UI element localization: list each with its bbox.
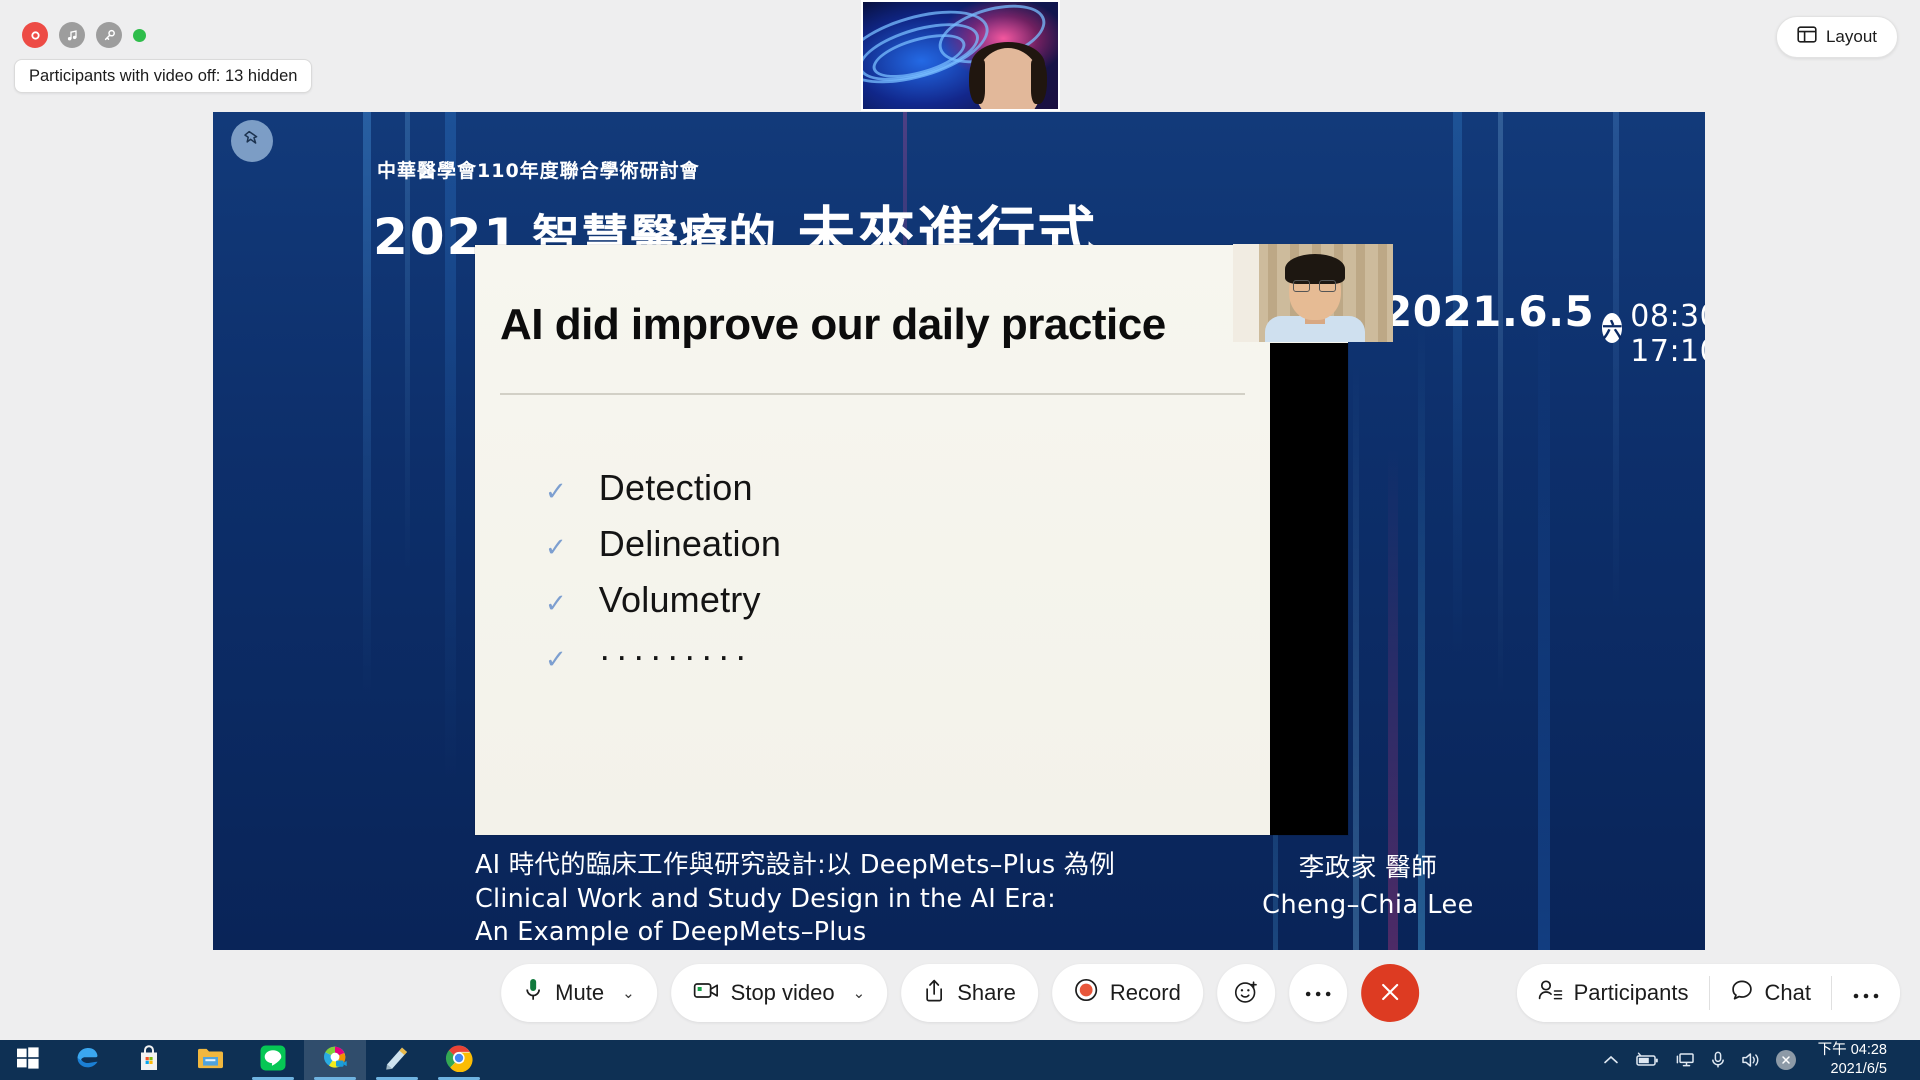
slide-caption-right: 李政家 醫師 Cheng–Chia Lee	[1213, 850, 1523, 924]
presentation-slide: AI did improve our daily practice ✓ Dete…	[475, 245, 1348, 835]
share-button[interactable]: Share	[901, 964, 1038, 1022]
slide-decoration-bar	[1613, 112, 1619, 950]
slide-divider	[500, 393, 1245, 395]
ellipsis-icon	[1852, 980, 1880, 1006]
taskbar-item-line[interactable]	[242, 1040, 304, 1080]
edge-icon	[73, 1044, 101, 1077]
volume-icon[interactable]	[1740, 1051, 1762, 1069]
webex-meeting-window: Participants with video off: 13 hidden L…	[0, 0, 1920, 1080]
record-button-label: Record	[1110, 980, 1181, 1006]
right-more-options-button[interactable]	[1832, 964, 1900, 1022]
slide-decoration-bar	[1418, 112, 1425, 950]
caption-line: Clinical Work and Study Design in the AI…	[475, 883, 1115, 917]
participants-hidden-notice: Participants with video off: 13 hidden	[14, 59, 312, 93]
chrome-icon	[445, 1044, 473, 1077]
taskbar-item-file-explorer[interactable]	[180, 1040, 242, 1080]
conference-weekday-badge: 六	[1602, 313, 1622, 343]
presenter-background	[1233, 244, 1259, 342]
presenter-glasses	[1319, 280, 1336, 292]
clock-date: 2021/6/5	[1818, 1060, 1887, 1079]
windows-taskbar: 下午 04:28 2021/6/5	[0, 1040, 1920, 1080]
mute-button-label: Mute	[555, 980, 604, 1006]
conference-date: 2021.6.5	[1383, 287, 1594, 336]
camera-icon	[693, 980, 719, 1006]
record-circle-icon	[1074, 978, 1098, 1008]
taskbar-item-webex[interactable]	[304, 1040, 366, 1080]
key-dot-icon[interactable]	[96, 22, 122, 48]
line-icon	[260, 1045, 286, 1076]
file-explorer-icon	[196, 1045, 226, 1076]
slide-bullet-list: ✓ Detection ✓ Delineation ✓ Volumetry ✓ …	[545, 467, 781, 691]
toolbar-right-group: Participants Chat	[1517, 964, 1900, 1022]
presenter-video-thumbnail[interactable]	[1233, 244, 1393, 342]
share-upload-icon	[923, 978, 945, 1008]
show-desktop-button[interactable]	[1901, 1040, 1908, 1080]
mute-button[interactable]: Mute ⌄	[501, 964, 657, 1022]
speaker-name-en: Cheng–Chia Lee	[1213, 887, 1523, 924]
taskbar-item-chrome[interactable]	[428, 1040, 490, 1080]
battery-icon[interactable]	[1634, 1052, 1660, 1068]
taskbar-item-sticky-notes[interactable]	[366, 1040, 428, 1080]
participants-icon	[1537, 978, 1563, 1008]
shared-screen-stage[interactable]: 中華醫學會110年度聯合學術研討會 2021 智慧醫療的 未來進行式 2021.…	[213, 112, 1705, 950]
close-x-icon	[1377, 979, 1403, 1008]
list-item: ✓ ·········	[545, 635, 781, 677]
self-video-person	[969, 60, 985, 104]
taskbar-item-edge[interactable]	[56, 1040, 118, 1080]
store-icon	[136, 1044, 162, 1077]
slide-decoration-bar	[1353, 112, 1359, 950]
slide-title: AI did improve our daily practice	[500, 300, 1166, 350]
slide-decoration-bar	[1453, 112, 1462, 950]
meeting-toolbar: Mute ⌄ Stop video ⌄	[0, 950, 1920, 1040]
stop-video-button[interactable]: Stop video ⌄	[671, 964, 888, 1022]
windows-start-button[interactable]	[0, 1040, 56, 1080]
network-icon[interactable]	[1674, 1052, 1696, 1068]
slide-decoration-bar	[1538, 112, 1550, 950]
check-icon: ✓	[545, 478, 567, 504]
music-dot-icon[interactable]	[59, 22, 85, 48]
stop-video-button-label: Stop video	[731, 980, 835, 1006]
list-item-label: Volumetry	[599, 579, 761, 621]
toolbar-center-group: Mute ⌄ Stop video ⌄	[501, 964, 1419, 1022]
participants-hidden-label: Participants with video off: 13 hidden	[29, 67, 297, 86]
unpin-button[interactable]	[231, 120, 273, 162]
record-button[interactable]: Record	[1052, 964, 1203, 1022]
list-item: ✓ Volumetry	[545, 579, 781, 621]
ellipsis-icon	[1304, 986, 1332, 1001]
record-dot-icon[interactable]	[22, 22, 48, 48]
conference-date-row: 2021.6.5 六 08:30-17:10	[1383, 287, 1705, 369]
status-dot-icon	[133, 29, 146, 42]
caption-line: AI 時代的臨床工作與研究設計:以 DeepMets–Plus 為例	[475, 849, 1115, 883]
slide-caption-left: AI 時代的臨床工作與研究設計:以 DeepMets–Plus 為例 Clini…	[475, 849, 1115, 950]
webex-icon	[321, 1044, 349, 1077]
pin-icon	[241, 128, 263, 155]
clock-time: 下午 04:28	[1818, 1041, 1887, 1060]
caption-line: An Example of DeepMets–Plus	[475, 916, 1115, 950]
system-tray: 下午 04:28 2021/6/5	[1602, 1040, 1920, 1080]
chevron-down-icon[interactable]: ⌄	[622, 984, 635, 1002]
slide-black-panel	[1270, 343, 1348, 835]
chevron-down-icon[interactable]: ⌄	[853, 984, 866, 1002]
action-center-x-icon[interactable]	[1776, 1050, 1796, 1070]
speaker-name-cn: 李政家 醫師	[1213, 850, 1523, 887]
check-icon: ✓	[545, 646, 567, 672]
list-item: ✓ Detection	[545, 467, 781, 509]
slide-decoration-bar	[1388, 112, 1398, 950]
participants-button[interactable]: Participants	[1517, 964, 1709, 1022]
chevron-up-icon[interactable]	[1602, 1053, 1620, 1067]
microphone-icon[interactable]	[1710, 1051, 1726, 1069]
taskbar-item-store[interactable]	[118, 1040, 180, 1080]
chat-button-label: Chat	[1765, 980, 1811, 1006]
more-options-button[interactable]	[1289, 964, 1347, 1022]
list-item-label: Delineation	[599, 523, 781, 565]
list-item: ✓ Delineation	[545, 523, 781, 565]
participants-button-label: Participants	[1574, 980, 1689, 1006]
self-video-thumbnail[interactable]	[861, 0, 1060, 111]
taskbar-clock[interactable]: 下午 04:28 2021/6/5	[1810, 1041, 1887, 1078]
windows-start-icon	[17, 1047, 39, 1074]
presenter-glasses	[1293, 280, 1310, 292]
conference-time-range: 08:30-17:10	[1630, 299, 1705, 369]
self-video-person	[1031, 60, 1047, 104]
list-item-label: ·········	[599, 635, 752, 677]
microphone-icon	[523, 977, 543, 1009]
window-controls	[22, 22, 146, 48]
layout-grid-icon	[1797, 25, 1817, 49]
slide-decoration-bar	[1498, 112, 1503, 950]
chat-button[interactable]: Chat	[1710, 964, 1831, 1022]
reactions-button[interactable]	[1217, 964, 1275, 1022]
share-button-label: Share	[957, 980, 1016, 1006]
check-icon: ✓	[545, 590, 567, 616]
conference-subtitle: 中華醫學會110年度聯合學術研討會	[377, 156, 1097, 183]
check-icon: ✓	[545, 534, 567, 560]
smiley-plus-icon	[1233, 979, 1259, 1008]
sticky-notes-icon	[383, 1045, 411, 1076]
leave-meeting-button[interactable]	[1361, 964, 1419, 1022]
chat-bubble-icon	[1730, 978, 1754, 1008]
list-item-label: Detection	[599, 467, 753, 509]
layout-button[interactable]: Layout	[1776, 16, 1898, 58]
layout-button-label: Layout	[1826, 27, 1877, 47]
